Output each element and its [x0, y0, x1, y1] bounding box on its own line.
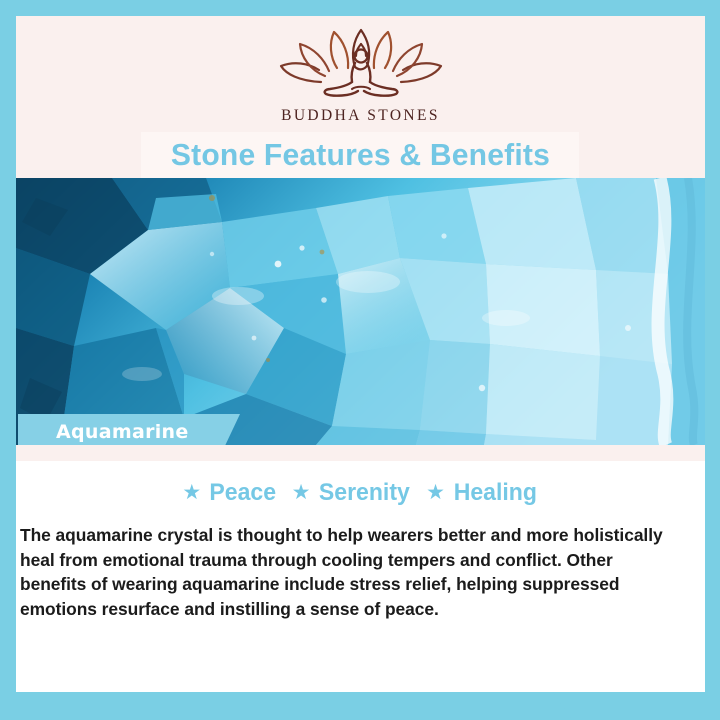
stone-photo: Aquamarine — [16, 178, 705, 445]
frame-band-top — [0, 0, 720, 16]
star-icon: ★ — [182, 482, 201, 503]
stone-name: Aquamarine — [56, 421, 189, 443]
benefit-item: ★ Healing — [426, 479, 539, 507]
benefit-label: Peace — [210, 479, 277, 507]
benefit-item: ★ Serenity — [292, 479, 413, 507]
benefit-label: Serenity — [319, 479, 410, 507]
aquamarine-crystal-illustration — [16, 178, 705, 445]
frame-band-left — [0, 0, 16, 720]
body-white-panel: ★ Peace ★ Serenity ★ Healing The aquamar… — [16, 461, 705, 692]
frame-band-bottom — [0, 692, 720, 720]
star-icon: ★ — [292, 482, 311, 503]
star-icon: ★ — [426, 482, 445, 503]
poster-header: BUDDHA STONES Stone Features & Benefits — [16, 16, 705, 178]
brand-logo: BUDDHA STONES — [16, 26, 705, 125]
page-title: Stone Features & Benefits — [170, 137, 549, 173]
stone-name-band: Aquamarine — [18, 414, 240, 445]
benefit-label: Healing — [454, 479, 537, 507]
frame-band-right — [704, 0, 720, 720]
poster-body: ★ Peace ★ Serenity ★ Healing The aquamar… — [16, 445, 705, 692]
stone-benefits-poster: BUDDHA STONES Stone Features & Benefits — [0, 0, 720, 720]
benefit-item: ★ Peace — [182, 479, 277, 507]
lotus-meditation-figure-icon — [277, 26, 445, 104]
title-banner: Stone Features & Benefits — [141, 132, 579, 178]
stone-description: The aquamarine crystal is thought to hel… — [20, 523, 680, 622]
poster-inner-page: BUDDHA STONES Stone Features & Benefits — [16, 16, 705, 692]
brand-name: BUDDHA STONES — [281, 107, 440, 125]
benefits-row: ★ Peace ★ Serenity ★ Healing — [16, 479, 705, 507]
